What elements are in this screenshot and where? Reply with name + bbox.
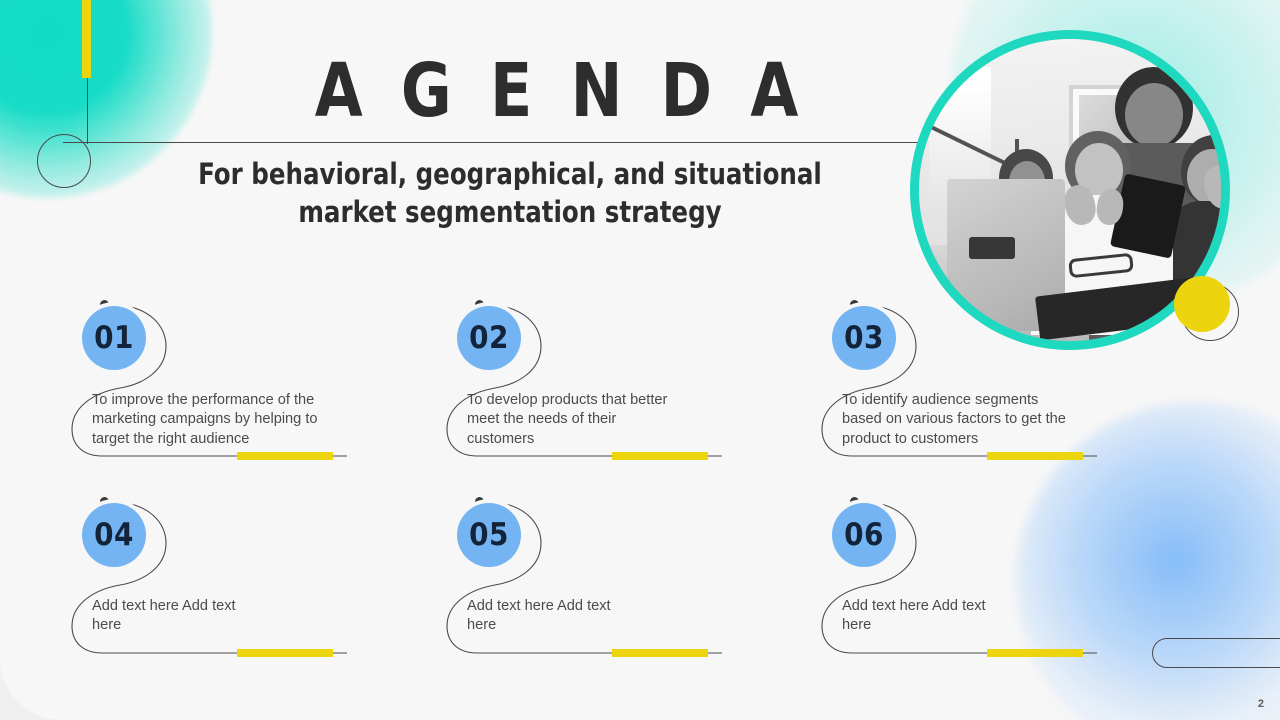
- agenda-number-circle-2[interactable]: 02: [457, 306, 521, 370]
- agenda-underline-bar-1: [237, 452, 333, 460]
- agenda-number-circle-4[interactable]: 04: [82, 503, 146, 567]
- decorative-pill-outline: [1152, 638, 1280, 668]
- agenda-text-5: Add text here Add text here: [467, 597, 617, 636]
- agenda-text-3: To identify audience segments based on v…: [842, 391, 1074, 449]
- agenda-underline-bar-3: [987, 452, 1083, 460]
- agenda-number-5: 05: [469, 517, 509, 553]
- agenda-number-1: 01: [94, 320, 134, 356]
- agenda-number-circle-6[interactable]: 06: [832, 503, 896, 567]
- header-horizontal-rule: [63, 142, 960, 143]
- agenda-underline-bar-4: [237, 649, 333, 657]
- slide-canvas: A G E N D A For behavioral, geographical…: [0, 0, 1280, 720]
- agenda-text-6: Add text here Add text here: [842, 597, 992, 636]
- agenda-text-4: Add text here Add text here: [92, 597, 242, 636]
- agenda-underline-bar-2: [612, 452, 708, 460]
- page-title: A G E N D A: [315, 50, 706, 132]
- page-number: 2: [1258, 698, 1264, 710]
- photo-accent-yellow-dot: [1174, 276, 1230, 332]
- agenda-number-circle-1[interactable]: 01: [82, 306, 146, 370]
- agenda-text-1: To improve the performance of the market…: [92, 391, 344, 449]
- page-subtitle: For behavioral, geographical, and situat…: [172, 155, 849, 231]
- agenda-number-circle-3[interactable]: 03: [832, 306, 896, 370]
- agenda-number-3: 03: [844, 320, 884, 356]
- header-yellow-accent-bar: [82, 0, 91, 78]
- agenda-number-circle-5[interactable]: 05: [457, 503, 521, 567]
- agenda-underline-bar-5: [612, 649, 708, 657]
- agenda-number-6: 06: [844, 517, 884, 553]
- agenda-underline-bar-6: [987, 649, 1083, 657]
- header-vertical-line: [87, 78, 88, 144]
- agenda-number-2: 02: [469, 320, 509, 356]
- agenda-text-2: To develop products that better meet the…: [467, 391, 682, 449]
- agenda-number-4: 04: [94, 517, 134, 553]
